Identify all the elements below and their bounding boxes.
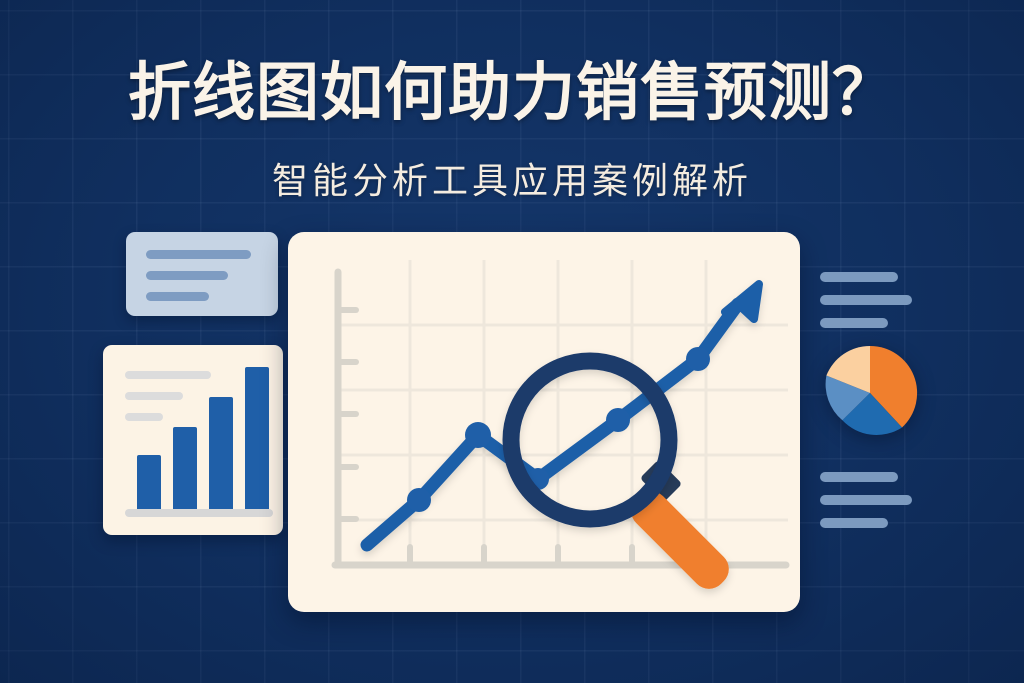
- bar-chart-baseline: [125, 509, 273, 517]
- line-chart-svg: [288, 232, 800, 612]
- poster-canvas: 折线图如何助力销售预测？ 智能分析工具应用案例解析: [0, 0, 1024, 683]
- right-top-line-3: [820, 318, 888, 328]
- note-line-3: [146, 292, 209, 301]
- bar-1: [137, 455, 161, 513]
- bar-3: [209, 397, 233, 513]
- bar-chart-card: [103, 345, 283, 535]
- line-chart-card: [288, 232, 800, 612]
- note-line-2: [146, 271, 228, 280]
- right-bottom-line-3: [820, 518, 888, 528]
- data-point-5: [686, 347, 710, 371]
- bar-2: [173, 427, 197, 513]
- data-point-2: [465, 422, 491, 448]
- right-lines-top: [820, 272, 912, 341]
- note-card: [126, 232, 278, 316]
- pie-chart: [821, 344, 919, 442]
- right-top-line-2: [820, 295, 912, 305]
- note-line-1: [146, 250, 251, 259]
- data-point-1: [407, 488, 431, 512]
- pie-chart-svg: [821, 344, 919, 442]
- page-subtitle: 智能分析工具应用案例解析: [0, 152, 1024, 204]
- bar-card-text-line-1: [125, 371, 211, 379]
- data-point-4: [606, 408, 630, 432]
- right-top-line-1: [820, 272, 898, 282]
- right-bottom-line-2: [820, 495, 912, 505]
- page-title: 折线图如何助力销售预测？: [0, 58, 1024, 129]
- right-bottom-line-1: [820, 472, 898, 482]
- bar-card-text-line-3: [125, 413, 163, 421]
- bar-card-text-line-2: [125, 392, 183, 400]
- bar-4: [245, 367, 269, 513]
- right-lines-bottom: [820, 472, 912, 541]
